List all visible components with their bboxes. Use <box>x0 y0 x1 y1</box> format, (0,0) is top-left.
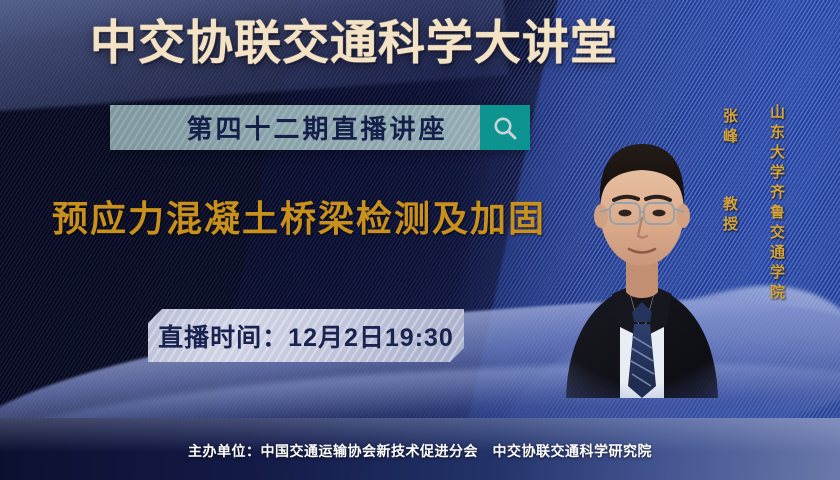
page-title: 中交协联交通科学大讲堂 <box>0 14 708 72</box>
episode-banner-body: 第四十二期直播讲座 <box>110 105 480 150</box>
lecture-topic: 预应力混凝土桥梁检测及加固 <box>52 190 546 242</box>
speaker-title: 教授 <box>719 196 740 236</box>
speaker-photo <box>556 86 728 398</box>
live-lecture-poster: 张峰 教授 山东大学齐鲁交通学院 中交协联交通科学大讲堂 第四十二期直播讲座 预… <box>0 0 840 480</box>
broadcast-time-text: 直播时间：12月2日19:30 <box>158 318 454 354</box>
search-icon[interactable] <box>480 105 530 150</box>
episode-label: 第四十二期直播讲座 <box>142 109 447 146</box>
broadcast-time-badge: 直播时间：12月2日19:30 <box>148 309 464 362</box>
speaker-affiliation: 山东大学齐鲁交通学院 <box>766 104 787 304</box>
episode-banner: 第四十二期直播讲座 <box>110 105 530 150</box>
speaker-name: 张峰 <box>719 108 740 148</box>
organizers-footer: 主办单位：中国交通运输协会新技术促进分会 中交协联交通科学研究院 <box>0 441 840 461</box>
